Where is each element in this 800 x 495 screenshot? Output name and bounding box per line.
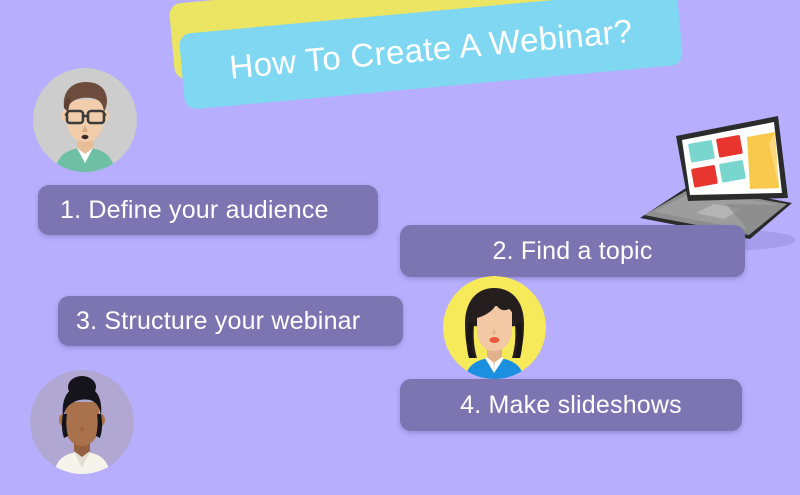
step-3-label: 3. Structure your webinar [76,307,360,336]
step-2-label: 2. Find a topic [492,237,652,266]
man-with-glasses-avatar [33,68,137,172]
woman-hair-bun-avatar [30,370,134,474]
page-title: How To Create A Webinar? [228,12,634,87]
step-4-label: 4. Make slideshows [460,391,682,420]
step-1-label: 1. Define your audience [60,196,329,225]
step-box-3[interactable]: 3. Structure your webinar [58,296,403,346]
woman-lips [490,337,500,343]
bun-face [65,402,99,446]
step-box-4[interactable]: 4. Make slideshows [400,379,742,431]
woman-bob-hair-avatar [443,276,546,379]
step-box-2[interactable]: 2. Find a topic [400,225,745,277]
step-box-1[interactable]: 1. Define your audience [38,185,378,235]
infographic-canvas: How To Create A Webinar? [0,0,800,495]
man-mouth [82,135,89,139]
bun-hair-knot [68,376,96,398]
